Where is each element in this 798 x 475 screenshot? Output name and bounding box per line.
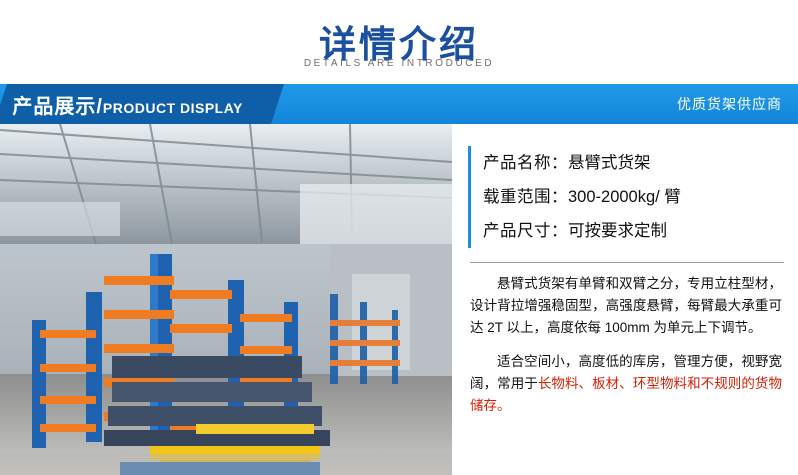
- spec-row-load: 载重范围：300-2000kg/ 臂: [483, 180, 786, 214]
- info-divider: [470, 262, 784, 263]
- spec-value-name: 悬臂式货架: [568, 154, 651, 172]
- description-paragraph-2: 适合空间小，高度低的库房，管理方便，视野宽阔，常用于长物料、板材、环型物料和不规…: [470, 351, 782, 417]
- product-detail-page: 详情介绍 DETAILS ARE INTRODUCED 产品展示/PRODUCT…: [0, 0, 798, 475]
- section-bar-slogan: 优质货架供应商: [677, 84, 782, 124]
- section-tag: 产品展示/PRODUCT DISPLAY: [0, 84, 284, 124]
- section-bar: 产品展示/PRODUCT DISPLAY 优质货架供应商: [0, 84, 798, 124]
- section-tag-label-cn: 产品展示: [12, 96, 96, 118]
- product-info-panel: 产品名称：悬臂式货架 载重范围：300-2000kg/ 臂 产品尺寸：可按要求定…: [452, 124, 798, 475]
- product-photo-illustration: [0, 124, 452, 475]
- section-tag-label-en: PRODUCT DISPLAY: [103, 100, 243, 116]
- page-header: 详情介绍 DETAILS ARE INTRODUCED: [0, 0, 798, 84]
- spec-label-size: 产品尺寸：: [483, 222, 568, 240]
- spec-label-load: 载重范围：: [483, 188, 568, 206]
- description-paragraph-1: 悬臂式货架有单臂和双臂之分，专用立柱型材，设计背拉增强稳固型，高强度悬臂，每臂最…: [470, 273, 782, 339]
- spec-row-size: 产品尺寸：可按要求定制: [483, 214, 786, 248]
- product-photo: [0, 124, 452, 475]
- product-spec-list: 产品名称：悬臂式货架 载重范围：300-2000kg/ 臂 产品尺寸：可按要求定…: [468, 146, 786, 248]
- section-tag-text: 产品展示/PRODUCT DISPLAY: [12, 90, 243, 119]
- spec-value-load: 300-2000kg/ 臂: [568, 188, 681, 206]
- content-area: 产品名称：悬臂式货架 载重范围：300-2000kg/ 臂 产品尺寸：可按要求定…: [0, 124, 798, 475]
- spec-row-name: 产品名称：悬臂式货架: [483, 146, 786, 180]
- spec-value-size: 可按要求定制: [568, 222, 667, 240]
- page-subtitle: DETAILS ARE INTRODUCED: [0, 58, 798, 69]
- spec-label-name: 产品名称：: [483, 154, 568, 172]
